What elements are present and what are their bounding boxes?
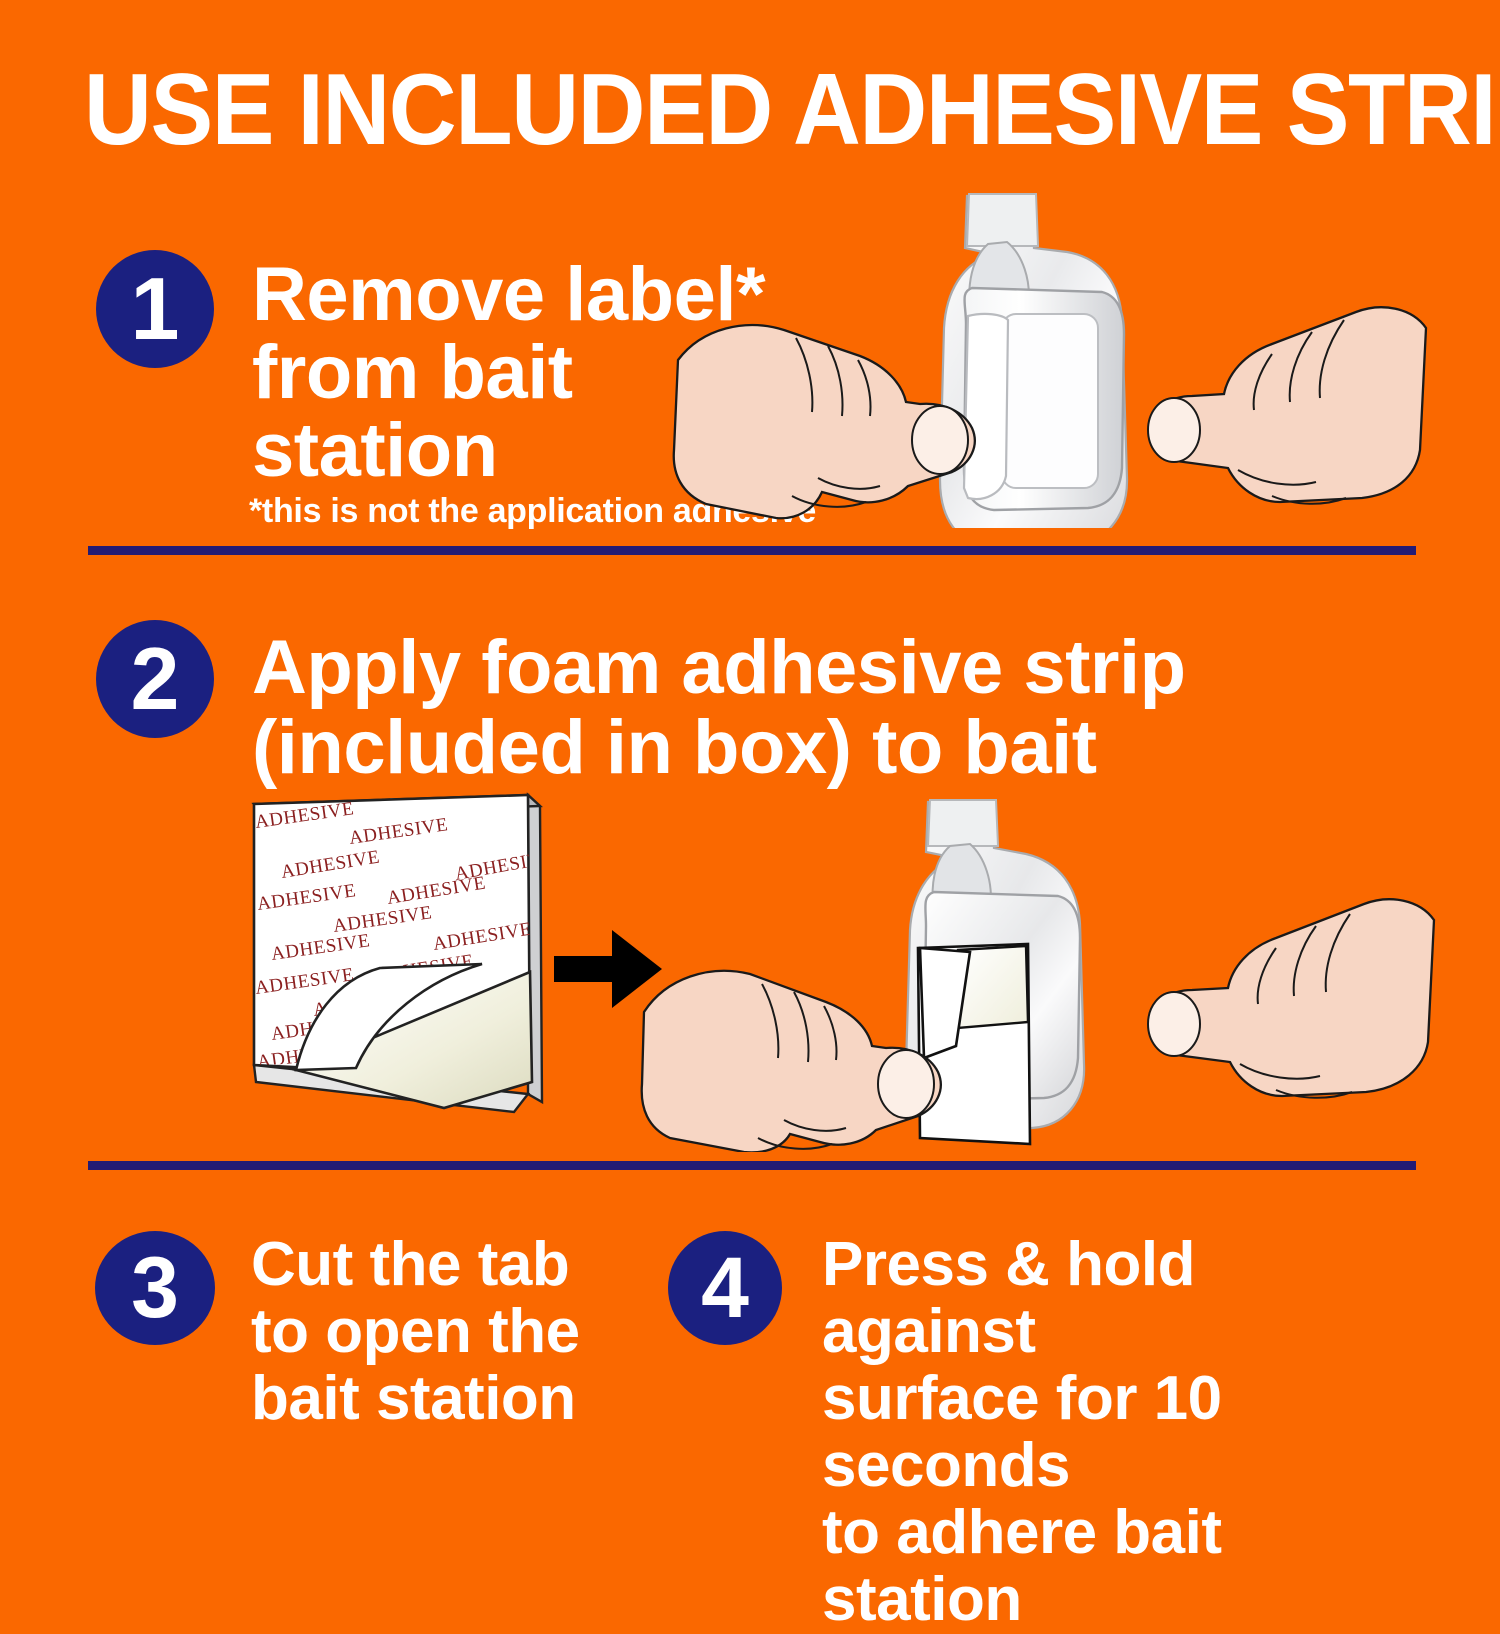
divider-1 xyxy=(88,546,1416,555)
bait-station-tab-2 xyxy=(928,800,998,846)
divider-2 xyxy=(88,1161,1416,1170)
illustration-hands-peel-label xyxy=(672,188,1432,528)
step-text-4: Press & hold against surface for 10 seco… xyxy=(822,1231,1422,1633)
step-number-2: 2 xyxy=(131,635,180,723)
right-hand-2 xyxy=(1152,899,1434,1096)
step-text-3: Cut the tab to open the bait station xyxy=(251,1231,621,1432)
infographic-page: USE INCLUDED ADHESIVE STRIP 1 Remove lab… xyxy=(0,0,1500,1500)
bait-station-panel xyxy=(1002,314,1098,488)
left-thumb xyxy=(912,406,968,474)
step-number-1: 1 xyxy=(131,265,180,353)
bait-station-tab xyxy=(967,194,1038,246)
right-thumb-2 xyxy=(1148,992,1200,1056)
step-number-badge-2: 2 xyxy=(96,620,214,738)
illustration-adhesive-pad: ADHESIVE ADHESIVE ADHESIVE ADHESIVE ADHE… xyxy=(238,782,568,1117)
step-number-badge-1: 1 xyxy=(96,250,214,368)
step-number-4: 4 xyxy=(701,1245,749,1331)
right-hand xyxy=(1152,307,1426,502)
step-number-badge-3: 3 xyxy=(95,1231,215,1345)
peeling-label xyxy=(964,314,1008,499)
left-thumb-2 xyxy=(878,1050,934,1118)
illustration-hands-apply-strip xyxy=(640,796,1440,1152)
step-number-3: 3 xyxy=(131,1245,179,1331)
right-thumb xyxy=(1148,398,1200,462)
step-number-badge-4: 4 xyxy=(668,1231,782,1345)
page-title: USE INCLUDED ADHESIVE STRIP xyxy=(84,58,1330,162)
